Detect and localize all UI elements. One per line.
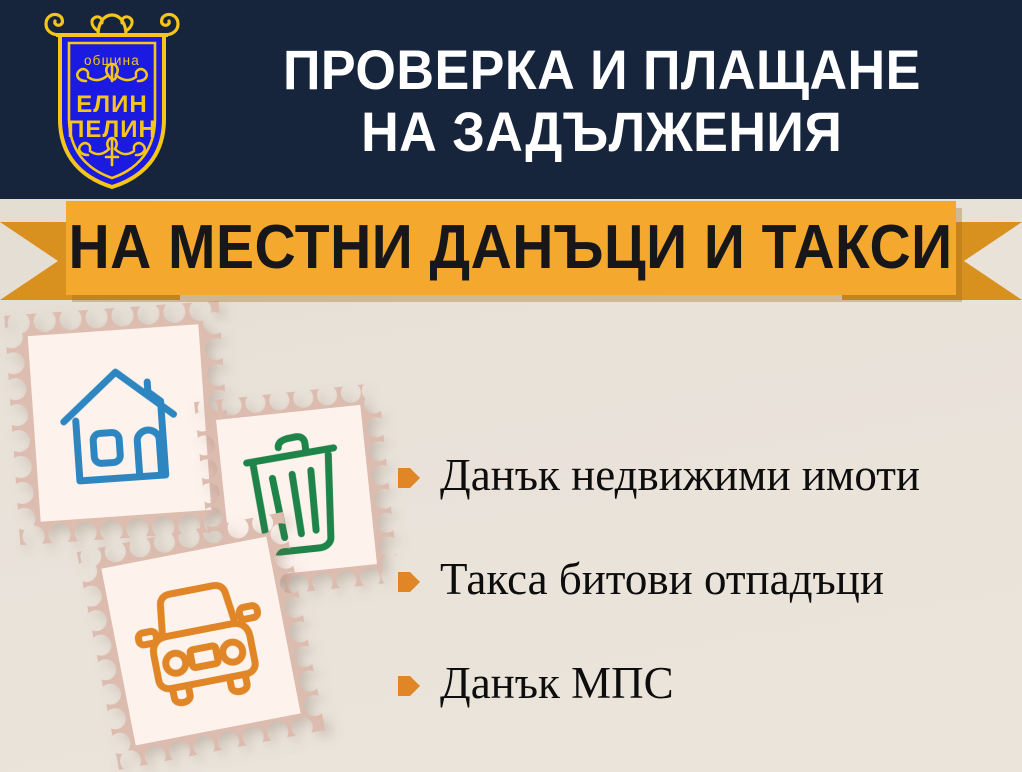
stamp-collage [0, 300, 420, 772]
subtitle-ribbon: НА МЕСТНИ ДАНЪЦИ И ТАКСИ [0, 196, 1022, 308]
page-title-line-1: ПРОВЕРКА И ПЛАЩАНЕ [283, 40, 921, 99]
list-item-label: Данък МПС [440, 660, 674, 707]
list-item-label: Такса битови отпадъци [440, 556, 884, 603]
list-item-label: Данък недвижими имоти [440, 452, 920, 499]
poster-canvas: община ЕЛИН ПЕЛИН [0, 0, 1022, 772]
arrow-pentagon-icon [398, 673, 420, 699]
poster-header: община ЕЛИН ПЕЛИН [0, 0, 1022, 199]
coat-of-arms-icon: община ЕЛИН ПЕЛИН [42, 9, 182, 191]
list-item[interactable]: Данък недвижими имоти [398, 424, 1018, 528]
svg-text:ЕЛИН: ЕЛИН [76, 91, 147, 118]
arrow-pentagon-icon [398, 465, 420, 491]
stamp-vehicle [77, 512, 326, 770]
list-item[interactable]: Такса битови отпадъци [398, 528, 1018, 632]
arrow-pentagon-icon [398, 569, 420, 595]
list-item[interactable]: Данък МПС [398, 632, 1018, 736]
header-title-block: ПРОВЕРКА И ПЛАЩАНЕ НА ЗАДЪЛЖЕНИЯ [192, 18, 1012, 183]
page-title-line-2: НА ЗАДЪЛЖЕНИЯ [361, 102, 842, 161]
ribbon-label: НА МЕСТНИ ДАНЪЦИ И ТАКСИ [69, 217, 953, 279]
tax-type-list: Данък недвижими имоти Такса битови отпад… [398, 424, 1018, 736]
ribbon-band: НА МЕСТНИ ДАНЪЦИ И ТАКСИ [66, 201, 956, 295]
